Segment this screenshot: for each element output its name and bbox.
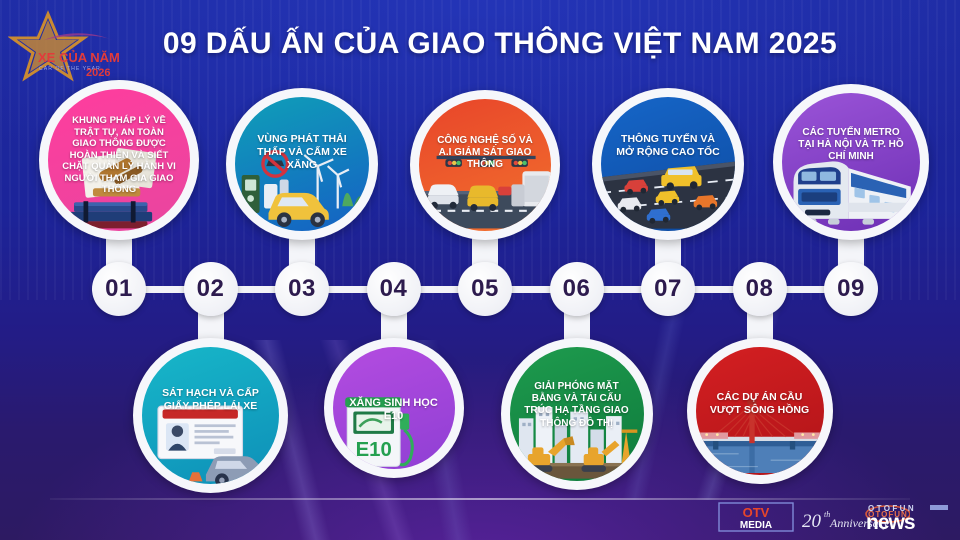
timeline-badge-07[interactable]: 07 [641,262,695,316]
page-title: 09 DẤU ẤN CỦA GIAO THÔNG VIỆT NAM 2025 [130,22,870,66]
timeline-badge-04[interactable]: 04 [367,262,421,316]
logo-line1: XE CỦA NĂM [38,50,120,65]
media-text: MEDIA [740,520,772,531]
xe-cua-nam-logo: XE CỦA NĂM CAR OF THE YEAR 2026 [8,10,120,82]
topic-text-08: CÁC DỰ ÁN CẦU VƯỢT SÔNG HỒNG [703,391,817,417]
topic-disc-03: VÙNG PHÁT THẢI THẤP VÀ CẤM XE XĂNG [235,97,369,231]
timeline-badge-06[interactable]: 06 [550,262,604,316]
topic-text-06: GIẢI PHÓNG MẶT BẰNG VÀ TÁI CẤU TRÚC HẠ T… [517,381,637,430]
topic-bubble-01[interactable]: KHUNG PHÁP LÝ VỀ TRẬT TỰ, AN TOÀN GIAO T… [39,80,199,240]
otofun-news-logo: OTOFUN news [858,500,954,532]
topic-disc-09: CÁC TUYẾN METRO TẠI HÀ NỘI VÀ TP. HỒ CHÍ… [782,93,920,231]
topic-text-01: KHUNG PHÁP LÝ VỀ TRẬT TỰ, AN TOÀN GIAO T… [55,115,183,196]
topic-text-03: VÙNG PHÁT THẢI THẤP VÀ CẤM XE XĂNG [242,133,362,171]
logo-year: 2026 [86,67,110,79]
topic-text-02: SÁT HẠCH VÀ CẤP GIẤY PHÉP LÁI XE [149,387,272,413]
topic-bubble-03[interactable]: VÙNG PHÁT THẢI THẤP VÀ CẤM XE XĂNG [226,88,378,240]
topic-disc-04: E10 XĂNG SINH HỌC E10 [333,347,455,469]
timeline-badge-05[interactable]: 05 [458,262,512,316]
highway-with-cars-illustration [601,148,735,231]
topic-text-09: CÁC TUYẾN METRO TẠI HÀ NỘI VÀ TP. HỒ CHÍ… [789,127,913,164]
topic-disc-08: CÁC DỰ ÁN CẦU VƯỢT SÔNG HỒNG [696,347,824,475]
topic-text-04: XĂNG SINH HỌC E10 [340,397,448,424]
topic-disc-07: THÔNG TUYẾN VÀ MỞ RỘNG CAO TỐC [601,97,735,231]
topic-disc-06: GIẢI PHÓNG MẶT BẰNG VÀ TÁI CẤU TRÚC HẠ T… [510,347,644,481]
topic-text-05: CÔNG NGHỆ SỐ VÀ A.I GIÁM SÁT GIAO THÔNG [426,135,544,172]
topic-disc-02: SÁT HẠCH VÀ CẤP GIẤY PHÉP LÁI XE [142,347,279,484]
timeline-badge-03[interactable]: 03 [275,262,329,316]
topic-bubble-08[interactable]: CÁC DỰ ÁN CẦU VƯỢT SÔNG HỒNG [687,338,833,484]
infographic-canvas: XE CỦA NĂM CAR OF THE YEAR 2026 09 DẤU Ấ… [0,0,960,540]
timeline-badge-01[interactable]: 01 [92,262,146,316]
topic-text-07: THÔNG TUYẾN VÀ MỞ RỘNG CAO TỐC [608,133,728,159]
topic-disc-01: KHUNG PHÁP LÝ VỀ TRẬT TỰ, AN TOÀN GIAO T… [48,89,190,231]
topic-bubble-05[interactable]: CÔNG NGHỆ SỐ VÀ A.I GIÁM SÁT GIAO THÔNG [410,90,560,240]
topic-bubble-07[interactable]: THÔNG TUYẾN VÀ MỞ RỘNG CAO TỐC [592,88,744,240]
timeline-badge-02[interactable]: 02 [184,262,238,316]
topic-bubble-09[interactable]: CÁC TUYẾN METRO TẠI HÀ NỘI VÀ TP. HỒ CHÍ… [773,84,929,240]
anniversary-number: 20 [802,511,822,532]
footer-divider [50,498,910,500]
otv-media-logo: OTV MEDIA [718,502,794,532]
timeline-badge-09[interactable]: 09 [824,262,878,316]
topic-bubble-06[interactable]: GIẢI PHÓNG MẶT BẰNG VÀ TÁI CẤU TRÚC HẠ T… [501,338,653,490]
topic-bubble-04[interactable]: E10 XĂNG SINH HỌC E10 [324,338,464,478]
topic-disc-05: CÔNG NGHỆ SỐ VÀ A.I GIÁM SÁT GIAO THÔNG [419,99,551,231]
svg-text:E10: E10 [355,440,391,462]
topic-bubble-02[interactable]: SÁT HẠCH VÀ CẤP GIẤY PHÉP LÁI XE [133,338,288,493]
timeline-badge-08[interactable]: 08 [733,262,787,316]
otofun-news-main: news [866,511,915,532]
otv-text: OTV [743,505,770,520]
